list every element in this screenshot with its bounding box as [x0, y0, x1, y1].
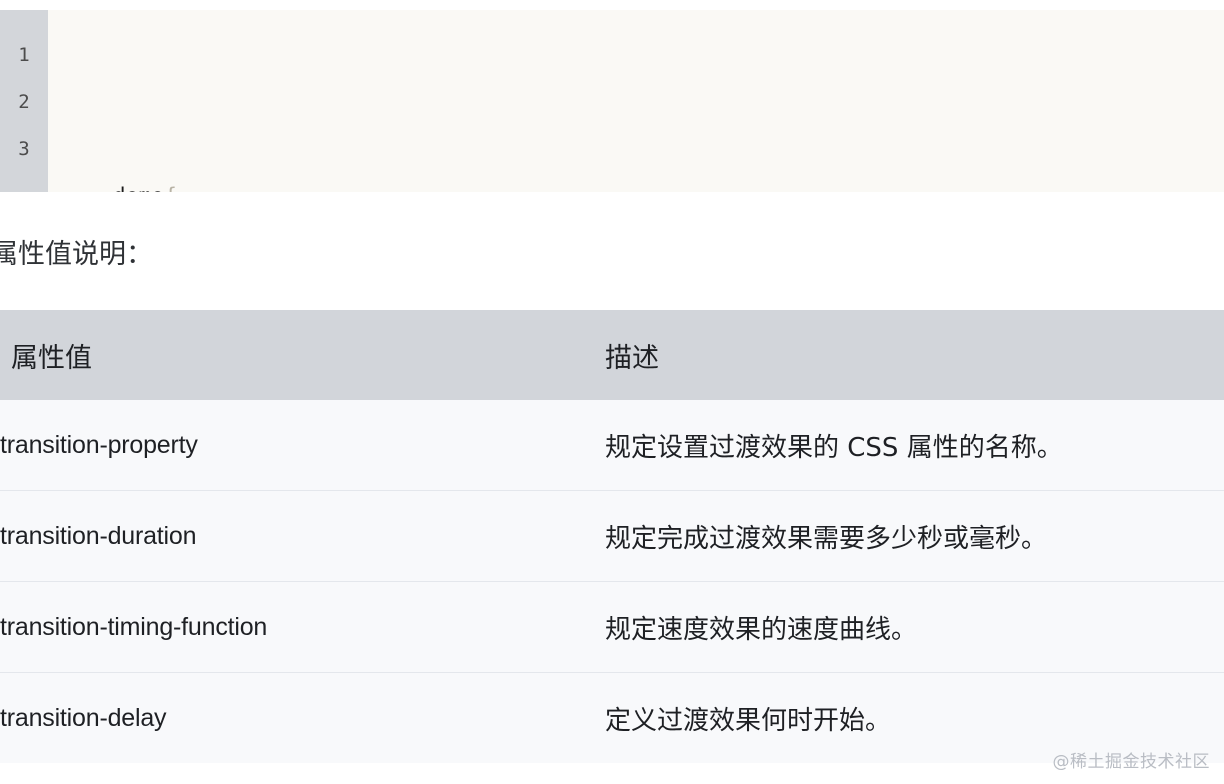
top-spacer: [0, 0, 1224, 10]
cell-description: 规定速度效果的速度曲线。: [605, 582, 1224, 673]
column-header-attribute-label: 属性值: [0, 336, 605, 375]
table-row: transition-property 规定设置过渡效果的 CSS 属性的名称。: [0, 400, 1224, 491]
column-header-attribute: 属性值: [0, 310, 605, 400]
line-number: 1: [0, 32, 48, 79]
watermark: @稀土掘金技术社区: [1053, 747, 1211, 772]
table-body: transition-property 规定设置过渡效果的 CSS 属性的名称。…: [0, 400, 1224, 763]
caption-section: 属性值说明：: [0, 192, 1224, 310]
property-table: 属性值 描述 transition-property 规定设置过渡效果的 CSS…: [0, 310, 1224, 763]
column-header-description: 描述: [605, 310, 1224, 400]
cell-attribute: transition-timing-function: [0, 582, 605, 673]
table-header-row: 属性值 描述: [0, 310, 1224, 400]
code-block: 1 2 3 .demo{ transition: property durati…: [0, 10, 1224, 192]
code-line-1: .demo{: [100, 173, 1224, 192]
css-selector-token: .demo: [100, 184, 164, 192]
table-row: transition-timing-function 规定速度效果的速度曲线。: [0, 582, 1224, 673]
column-header-description-label: 描述: [605, 336, 1224, 375]
table-row: transition-duration 规定完成过渡效果需要多少秒或毫秒。: [0, 491, 1224, 582]
open-brace-token: {: [164, 184, 177, 192]
code-content[interactable]: .demo{ transition: property duration tim…: [48, 10, 1224, 192]
cell-description: 规定完成过渡效果需要多少秒或毫秒。: [605, 491, 1224, 582]
caption-text: 属性值说明：: [0, 232, 153, 271]
cell-description: 规定设置过渡效果的 CSS 属性的名称。: [605, 400, 1224, 491]
line-number: 3: [0, 126, 48, 173]
cell-attribute: transition-property: [0, 400, 605, 491]
table-header: 属性值 描述: [0, 310, 1224, 400]
code-line-number-gutter: 1 2 3: [0, 10, 48, 192]
table-row: transition-delay 定义过渡效果何时开始。: [0, 673, 1224, 764]
cell-attribute: transition-duration: [0, 491, 605, 582]
line-number: 2: [0, 79, 48, 126]
cell-attribute: transition-delay: [0, 673, 605, 764]
